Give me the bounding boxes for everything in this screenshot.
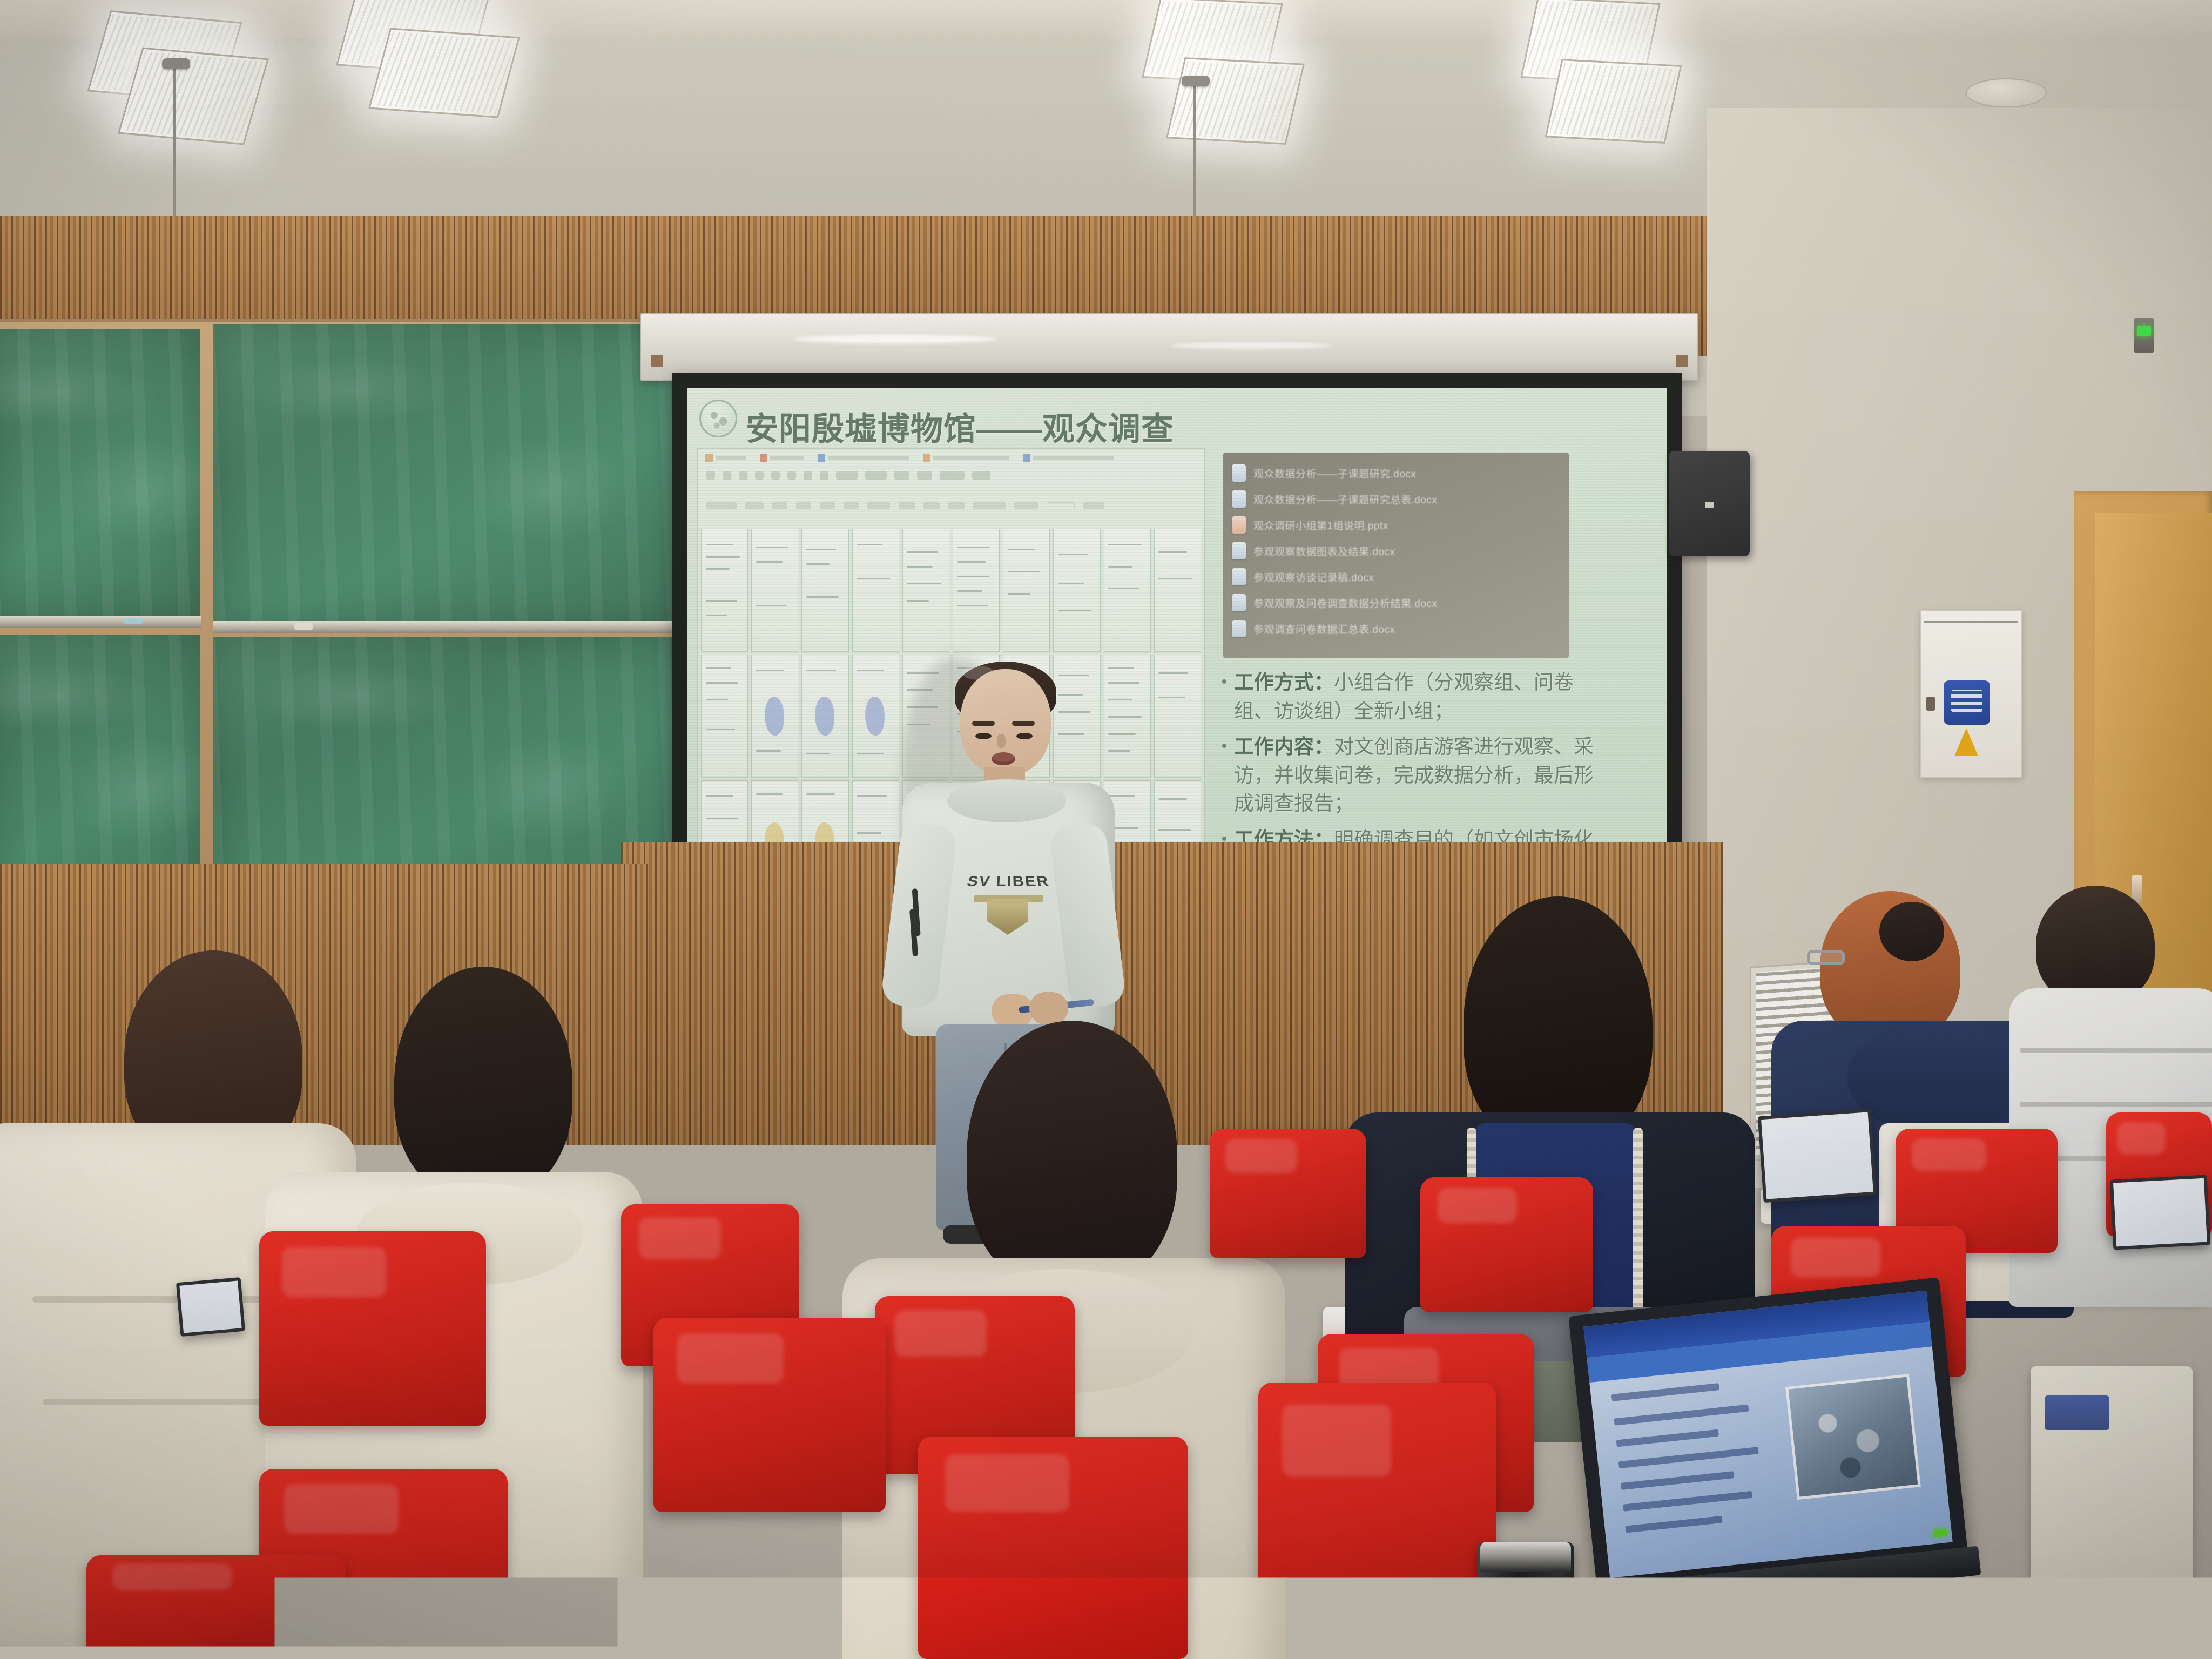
- ceiling-light-icon: [368, 28, 520, 118]
- hoodie-logo: SV LIBER: [962, 869, 1054, 939]
- housing-bracket: [1676, 355, 1688, 367]
- word-doc-icon: [1232, 464, 1246, 482]
- bookmark-item: [1023, 454, 1114, 462]
- document-thumbnail: [852, 529, 899, 652]
- ppt-doc-icon: [1232, 516, 1246, 534]
- ceiling-hanger-rod: [173, 65, 176, 227]
- document-thumbnail: [701, 529, 748, 652]
- classroom-chair[interactable]: [1210, 1129, 1366, 1258]
- presenter-hood: [947, 779, 1066, 822]
- chalk-piece: [124, 618, 143, 624]
- document-thumbnail: [751, 529, 798, 652]
- file-name: 参观观察及问卷调查数据分析结果.docx: [1253, 596, 1437, 610]
- bookmark-item: [705, 454, 746, 462]
- chalk-piece: [294, 623, 313, 630]
- bullet-dot-icon: [1222, 744, 1226, 748]
- doc-line: [1616, 1429, 1719, 1447]
- file-list-item: 参观观察访谈记录稿.docx: [1232, 564, 1560, 590]
- file-manager-tabs: [701, 487, 1201, 524]
- museum-seal-icon: [699, 400, 737, 437]
- doc-line: [1625, 1516, 1722, 1533]
- chalkboard-panel: [0, 329, 200, 621]
- ceiling-hanger-plate: [162, 58, 190, 69]
- classroom-chair[interactable]: [86, 1555, 346, 1659]
- doc-line: [1621, 1471, 1734, 1490]
- bullet-item: 工作内容：对文创商店游客进行观察、采访，并收集问卷，完成数据分析，最后形成调查报…: [1222, 733, 1600, 818]
- ceiling-hanger-plate: [1182, 76, 1210, 86]
- bookmark-item: [818, 454, 909, 462]
- ceiling-light-icon: [1545, 59, 1682, 144]
- file-name: 参观调查问卷数据汇总表.docx: [1253, 622, 1395, 636]
- word-doc-icon: [1232, 542, 1246, 559]
- hoodie-hood: [1847, 1021, 2025, 1134]
- bookmark-item: [923, 454, 1009, 462]
- puffer-seam: [2020, 1048, 2212, 1053]
- file-list-item: 观众数据分析——子课题研究总表.docx: [1232, 486, 1560, 512]
- emergency-exit-indicator-icon: [2134, 318, 2154, 353]
- file-list-panel: 观众数据分析——子课题研究.docx 观众数据分析——子课题研究总表.docx …: [1223, 453, 1569, 658]
- ceiling-light-icon: [1166, 57, 1305, 145]
- file-list-item: 参观调查问卷数据汇总表.docx: [1232, 616, 1560, 642]
- warning-triangle-icon: [1954, 728, 1978, 756]
- thermos-ring: [1478, 1595, 1573, 1601]
- bag-logo: [2045, 1395, 2109, 1430]
- presenter-eye: [1016, 733, 1033, 739]
- document-thumbnail: [1104, 529, 1151, 652]
- file-list-item: 参观观察及问卷调查数据分析结果.docx: [1232, 590, 1560, 616]
- doc-image-thumbnail: [1785, 1374, 1921, 1500]
- classroom-chair[interactable]: [653, 1318, 886, 1512]
- slide-title: 安阳殷墟博物馆——观众调查: [746, 403, 1174, 450]
- blue-info-sign-icon: [1944, 680, 1990, 725]
- presenter-hand-right: [1029, 992, 1068, 1024]
- wall-speaker-icon: [1669, 451, 1750, 556]
- classroom-chair[interactable]: [918, 1437, 1188, 1659]
- student-laptop[interactable]: [176, 1277, 245, 1337]
- ceiling-band: [0, 0, 2212, 38]
- wall-notice-panel: [1920, 610, 2022, 778]
- chalk-tray: [0, 616, 201, 628]
- wall-hook-icon: [1926, 697, 1935, 711]
- document-thumbnail: [1053, 529, 1100, 652]
- presenter-eyebrow: [1012, 721, 1035, 726]
- word-doc-icon: [1232, 594, 1246, 611]
- tote-bag[interactable]: [2031, 1366, 2193, 1615]
- student-hair: [394, 967, 572, 1199]
- student-laptop[interactable]: [1758, 1109, 1877, 1203]
- presenter-nose: [997, 734, 1006, 748]
- word-doc-icon: [1232, 568, 1246, 585]
- presenter-eyebrow: [972, 721, 995, 726]
- bullet-dot-icon: [1222, 837, 1226, 841]
- bullet-label: 工作内容：: [1234, 736, 1334, 758]
- thermos-cap[interactable]: [1480, 1542, 1571, 1572]
- bullet-item: 工作方式：小组合作（分观察组、问卷组、访谈组）全新小组；: [1222, 669, 1600, 725]
- thermos-bottle[interactable]: [1477, 1542, 1574, 1659]
- doc-line: [1611, 1383, 1719, 1401]
- classroom-chair[interactable]: [259, 1231, 486, 1426]
- bookmark-item: [760, 454, 804, 462]
- word-doc-icon: [1232, 490, 1246, 508]
- classroom-chair[interactable]: [1258, 1382, 1496, 1659]
- document-thumbnail: [1003, 529, 1050, 652]
- hoodie-crest-icon: [987, 899, 1028, 935]
- file-list-item: 观众数据分析——子课题研究.docx: [1232, 460, 1560, 486]
- glasses-icon: [1807, 950, 1845, 965]
- ceiling-light-icon: [118, 48, 269, 145]
- bullet-dot-icon: [1222, 679, 1226, 684]
- document-thumbnail: [1154, 655, 1201, 778]
- housing-bracket: [651, 355, 663, 367]
- housing-highlight: [1170, 342, 1332, 349]
- file-name: 观众数据分析——子课题研究.docx: [1253, 466, 1416, 481]
- student-hair: [2036, 886, 2155, 1004]
- file-list-item: 参观观察数据图表及结果.docx: [1232, 538, 1560, 564]
- housing-highlight: [792, 335, 997, 343]
- chalkboard-panel: [213, 324, 680, 626]
- laptop-display[interactable]: [1583, 1291, 1952, 1578]
- document-thumbnail: [801, 529, 848, 652]
- file-name: 观众数据分析——子课题研究总表.docx: [1253, 492, 1437, 507]
- document-thumbnail: [953, 529, 1000, 652]
- hair-bun: [1879, 902, 1944, 961]
- roller-screen-housing: [640, 313, 1698, 381]
- student-laptop[interactable]: [2110, 1175, 2211, 1250]
- student-hair: [967, 1021, 1177, 1291]
- browser-bookmarks-bar: [701, 451, 1201, 465]
- file-list-item: 观众调研小组第1组说明.pptx: [1232, 512, 1560, 538]
- file-manager-toolbar: [701, 467, 1201, 483]
- notice-rule: [1924, 621, 2018, 623]
- presenter-mouth: [992, 752, 1015, 765]
- classroom-photo: 安阳殷墟博物馆——观众调查: [0, 0, 2212, 1659]
- classroom-chair[interactable]: [1420, 1177, 1593, 1312]
- document-thumbnail: [701, 655, 748, 778]
- doc-line: [1614, 1405, 1749, 1426]
- chalk-tray: [213, 621, 682, 633]
- doc-line: [1623, 1491, 1752, 1512]
- word-doc-icon: [1232, 620, 1246, 637]
- document-thumbnail: [1154, 529, 1201, 652]
- file-name: 观众调研小组第1组说明.pptx: [1253, 518, 1388, 532]
- smoke-detector-icon: [1966, 78, 2047, 107]
- file-name: 参观观察访谈记录稿.docx: [1253, 570, 1374, 584]
- file-name: 参观观察数据图表及结果.docx: [1253, 544, 1395, 558]
- bullet-label: 工作方式：: [1234, 671, 1334, 693]
- doc-line: [1618, 1447, 1759, 1468]
- presenter-eye: [975, 733, 992, 739]
- document-thumbnail: [751, 655, 798, 778]
- document-thumbnail: [902, 529, 949, 652]
- foreground-laptop[interactable]: [1568, 1277, 1969, 1601]
- puffer-seam: [2020, 1102, 2212, 1107]
- laptop-status-led: [1933, 1528, 1947, 1537]
- document-thumbnail: [801, 655, 848, 778]
